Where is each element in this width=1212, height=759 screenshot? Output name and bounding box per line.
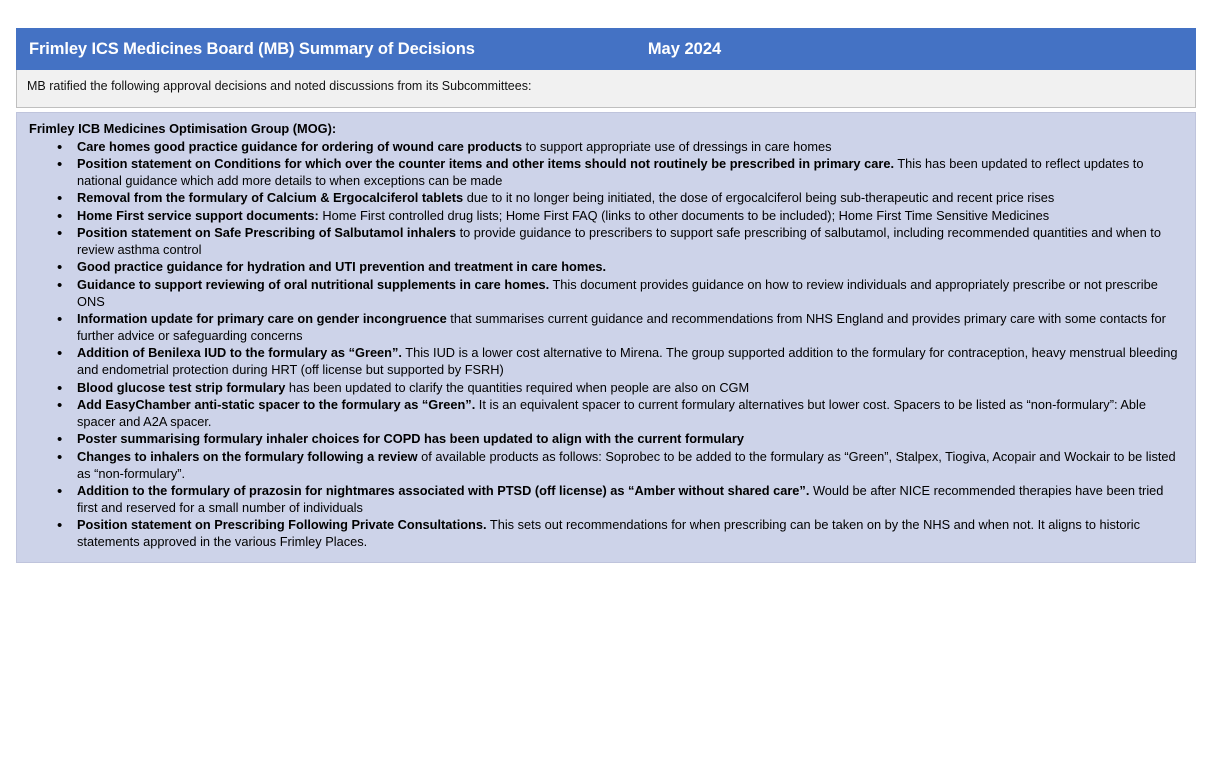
decisions-row: Frimley ICB Medicines Optimisation Group…: [16, 112, 1196, 563]
list-item-title: Addition of Benilexa IUD to the formular…: [77, 345, 402, 360]
list-item: Changes to inhalers on the formulary fol…: [27, 449, 1183, 483]
page-title: Frimley ICS Medicines Board (MB) Summary…: [29, 40, 475, 59]
list-item: Addition to the formulary of prazosin fo…: [27, 483, 1183, 517]
list-item-title: Changes to inhalers on the formulary fol…: [77, 449, 418, 464]
list-item-title: Care homes good practice guidance for or…: [77, 139, 522, 154]
list-item-title: Addition to the formulary of prazosin fo…: [77, 483, 809, 498]
list-item: Add EasyChamber anti-static spacer to th…: [27, 397, 1183, 431]
list-item: Position statement on Safe Prescribing o…: [27, 225, 1183, 259]
list-item-detail: has been updated to clarify the quantiti…: [285, 380, 749, 395]
list-item: Position statement on Prescribing Follow…: [27, 517, 1183, 551]
list-item-detail: due to it no longer being initiated, the…: [463, 190, 1054, 205]
header-date: May 2024: [648, 40, 721, 59]
list-item-title: Guidance to support reviewing of oral nu…: [77, 277, 549, 292]
list-item-detail: to support appropriate use of dressings …: [522, 139, 831, 154]
list-item: Good practice guidance for hydration and…: [27, 259, 1183, 276]
list-item-title: Position statement on Safe Prescribing o…: [77, 225, 456, 240]
list-item: Position statement on Conditions for whi…: [27, 156, 1183, 190]
list-item: Information update for primary care on g…: [27, 311, 1183, 345]
list-item-title: Blood glucose test strip formulary: [77, 380, 285, 395]
list-item-title: Position statement on Conditions for whi…: [77, 156, 894, 171]
intro-text: MB ratified the following approval decis…: [27, 79, 531, 93]
list-item-detail: Home First controlled drug lists; Home F…: [319, 208, 1049, 223]
intro-row: MB ratified the following approval decis…: [16, 70, 1196, 108]
list-item: Blood glucose test strip formulary has b…: [27, 380, 1183, 397]
decision-list: Care homes good practice guidance for or…: [27, 139, 1183, 551]
group-heading: Frimley ICB Medicines Optimisation Group…: [29, 121, 1183, 138]
list-item-title: Information update for primary care on g…: [77, 311, 447, 326]
list-item: Poster summarising formulary inhaler cho…: [27, 431, 1183, 448]
list-item: Removal from the formulary of Calcium & …: [27, 190, 1183, 207]
list-item: Home First service support documents: Ho…: [27, 208, 1183, 225]
list-item: Addition of Benilexa IUD to the formular…: [27, 345, 1183, 379]
list-item-title: Good practice guidance for hydration and…: [77, 259, 606, 274]
list-item-title: Removal from the formulary of Calcium & …: [77, 190, 463, 205]
list-item-title: Home First service support documents:: [77, 208, 319, 223]
list-item: Care homes good practice guidance for or…: [27, 139, 1183, 156]
list-item: Guidance to support reviewing of oral nu…: [27, 277, 1183, 311]
list-item-title: Position statement on Prescribing Follow…: [77, 517, 487, 532]
summary-table: Frimley ICS Medicines Board (MB) Summary…: [16, 28, 1196, 563]
list-item-title: Poster summarising formulary inhaler cho…: [77, 431, 744, 446]
table-header-row: Frimley ICS Medicines Board (MB) Summary…: [16, 28, 1196, 70]
list-item-title: Add EasyChamber anti-static spacer to th…: [77, 397, 475, 412]
document-page: Frimley ICS Medicines Board (MB) Summary…: [0, 0, 1212, 759]
